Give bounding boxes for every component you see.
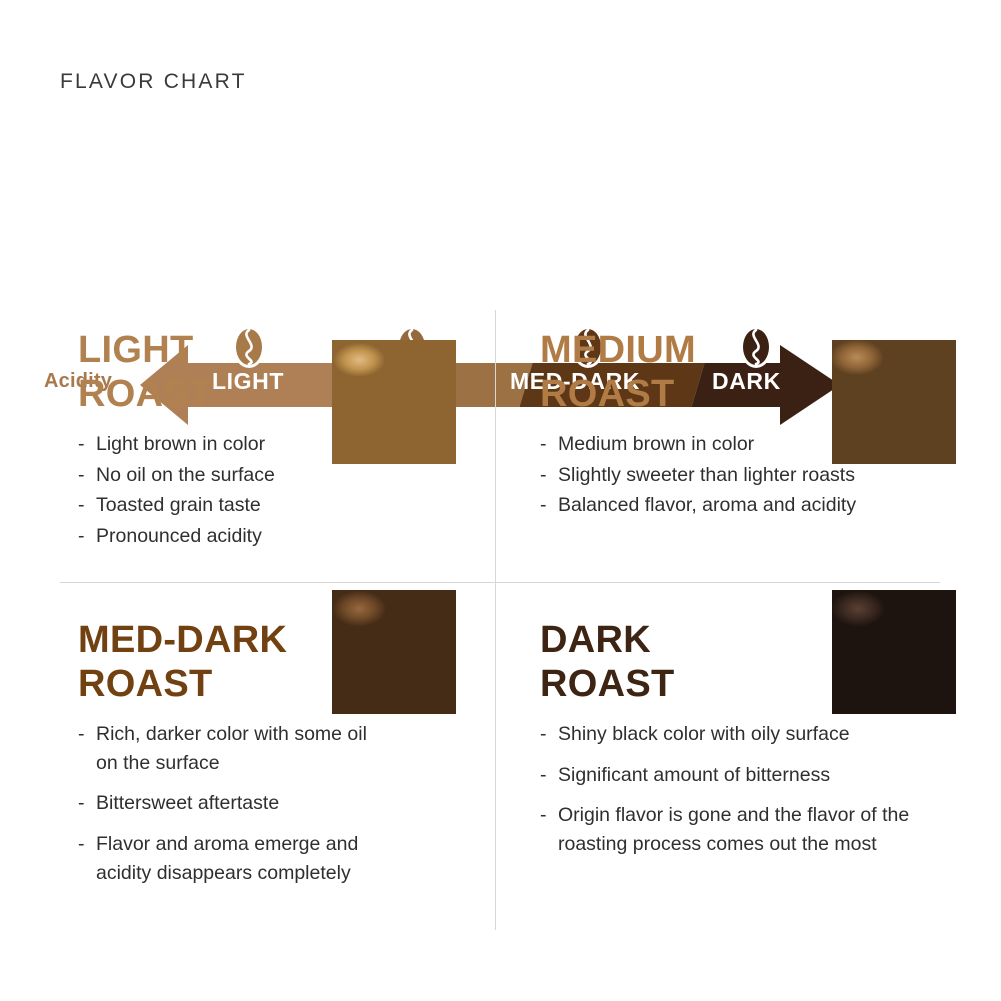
roast-heading-light: LIGHT ROAST — [78, 328, 518, 416]
list-item: Balanced flavor, aroma and acidity — [540, 491, 980, 520]
roast-quadrant-grid: LIGHT ROAST Light brown in color No oil … — [0, 300, 1001, 940]
list-item: Flavor and aroma emerge and acidity disa… — [78, 830, 378, 887]
quadrant-divider-horizontal — [60, 582, 940, 583]
roast-scale: Acidity Bitterness LIGHT MEDIUM MED-DARK… — [0, 160, 1001, 275]
list-item: Shiny black color with oily surface — [540, 720, 920, 749]
roast-card-dark: DARK ROAST Shiny black color with oily s… — [540, 618, 980, 871]
list-item: Rich, darker color with some oil on the … — [78, 720, 378, 777]
list-item: Significant amount of bitterness — [540, 761, 920, 790]
list-item: Origin flavor is gone and the flavor of … — [540, 801, 920, 858]
page-title: FLAVOR CHART — [60, 70, 247, 94]
roast-heading-dark: DARK ROAST — [540, 618, 980, 706]
list-item: Bittersweet aftertaste — [78, 789, 378, 818]
list-item: Toasted grain taste — [78, 491, 518, 520]
roast-heading-medium: MEDIUM ROAST — [540, 328, 980, 416]
list-item: Pronounced acidity — [78, 522, 518, 551]
roast-bullets-med-dark: Rich, darker color with some oil on the … — [78, 720, 378, 887]
roast-card-med-dark: MED-DARK ROAST Rich, darker color with s… — [78, 618, 518, 899]
roast-card-light: LIGHT ROAST Light brown in color No oil … — [78, 328, 518, 553]
list-item: Slightly sweeter than lighter roasts — [540, 461, 980, 490]
roast-card-medium: MEDIUM ROAST Medium brown in color Sligh… — [540, 328, 980, 522]
roast-heading-med-dark: MED-DARK ROAST — [78, 618, 518, 706]
roast-bullets-dark: Shiny black color with oily surface Sign… — [540, 720, 920, 859]
list-item: No oil on the surface — [78, 461, 518, 490]
